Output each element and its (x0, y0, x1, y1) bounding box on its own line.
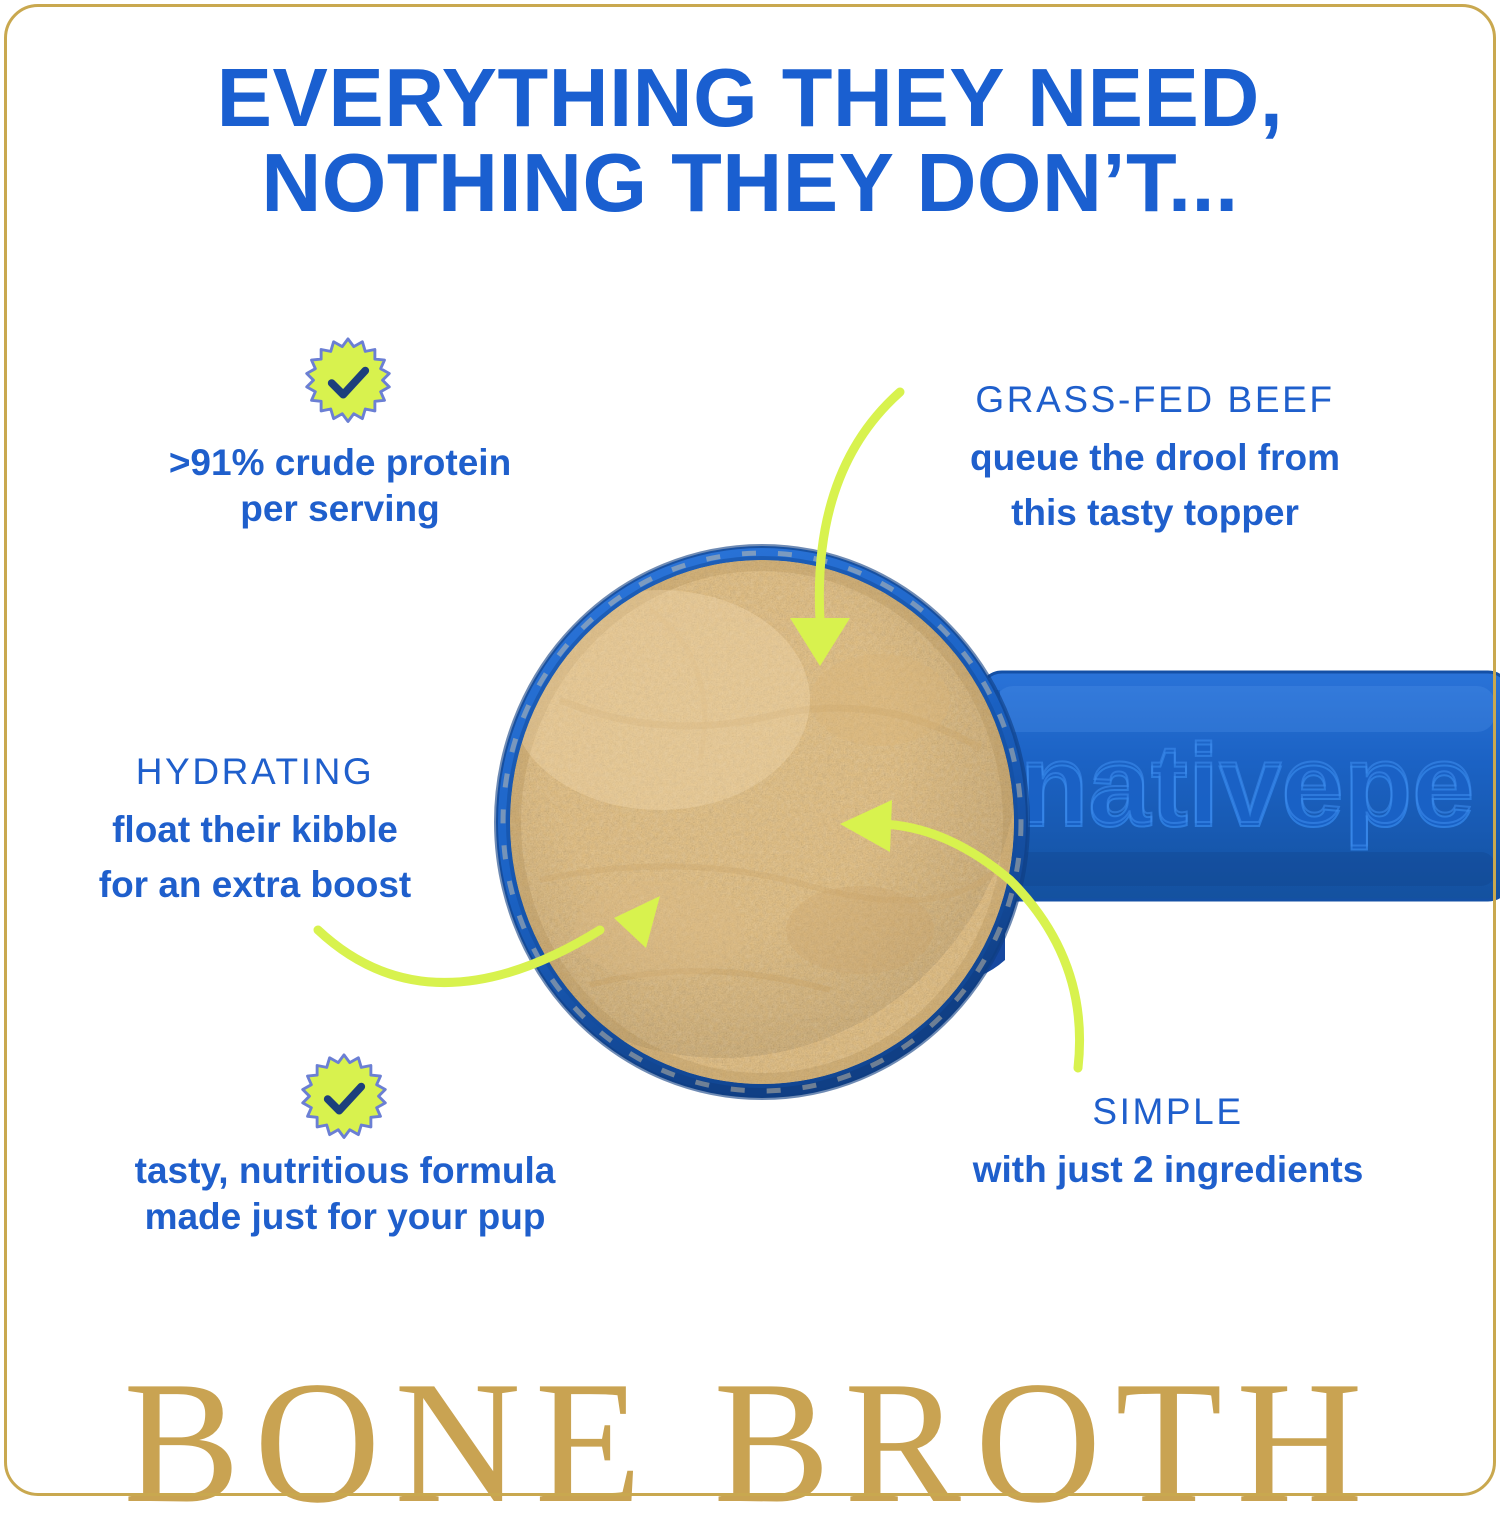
badge-caption-line-2: per serving (115, 486, 565, 532)
badge-caption-protein: >91% crude protein per serving (115, 440, 565, 532)
badge-caption-line-1: >91% crude protein (115, 440, 565, 486)
page-title: EVERYTHING THEY NEED, NOTHING THEY DON’T… (0, 56, 1500, 225)
feature-body-line-1: with just 2 ingredients (948, 1147, 1388, 1192)
feature-body-line-1: queue the drool from (905, 435, 1405, 480)
badge-caption-line-2: made just for your pup (70, 1194, 620, 1240)
svg-text:nativepe: nativepe (1020, 721, 1474, 846)
feature-title: HYDRATING (45, 750, 465, 794)
feature-simple: SIMPLE with just 2 ingredients (948, 1090, 1388, 1193)
product-wordmark: BONE BROTH (0, 1355, 1500, 1530)
feature-body-line-2: this tasty topper (905, 490, 1405, 535)
check-badge-icon (300, 337, 396, 433)
feature-title: GRASS-FED BEEF (905, 378, 1405, 422)
feature-grass-fed-beef: GRASS-FED BEEF queue the drool from this… (905, 378, 1405, 535)
feature-body-line-1: float their kibble (45, 807, 465, 852)
check-badge-icon (296, 1053, 392, 1149)
feature-body-line-2: for an extra boost (45, 862, 465, 907)
bone-broth-powder (510, 560, 1014, 1084)
badge-caption-line-1: tasty, nutritious formula (70, 1148, 620, 1194)
headline-line-2: NOTHING THEY DON’T... (0, 141, 1500, 226)
headline-line-1: EVERYTHING THEY NEED, (217, 51, 1284, 144)
badge-caption-formula: tasty, nutritious formula made just for … (70, 1148, 620, 1240)
feature-hydrating: HYDRATING float their kibble for an extr… (45, 750, 465, 907)
scoop-handle: nativepe nativepe (980, 672, 1500, 900)
feature-title: SIMPLE (948, 1090, 1388, 1134)
